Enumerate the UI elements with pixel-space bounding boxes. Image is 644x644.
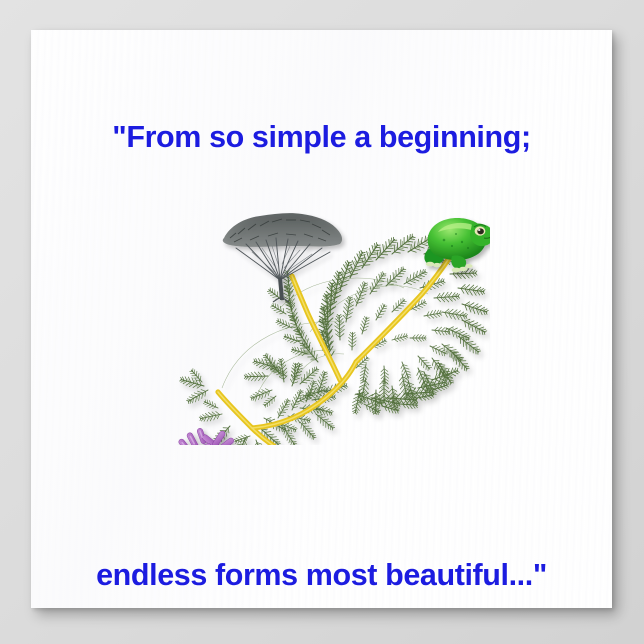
artwork-tree-of-life — [160, 190, 490, 445]
poster-sheet: "From so simple a beginning; — [31, 30, 612, 608]
quote-line-top: "From so simple a beginning; — [31, 122, 612, 153]
acacia-tree-silhouette — [223, 213, 342, 302]
green-tree-frog — [424, 218, 490, 272]
quote-line-bottom: endless forms most beautiful..." — [31, 560, 612, 591]
